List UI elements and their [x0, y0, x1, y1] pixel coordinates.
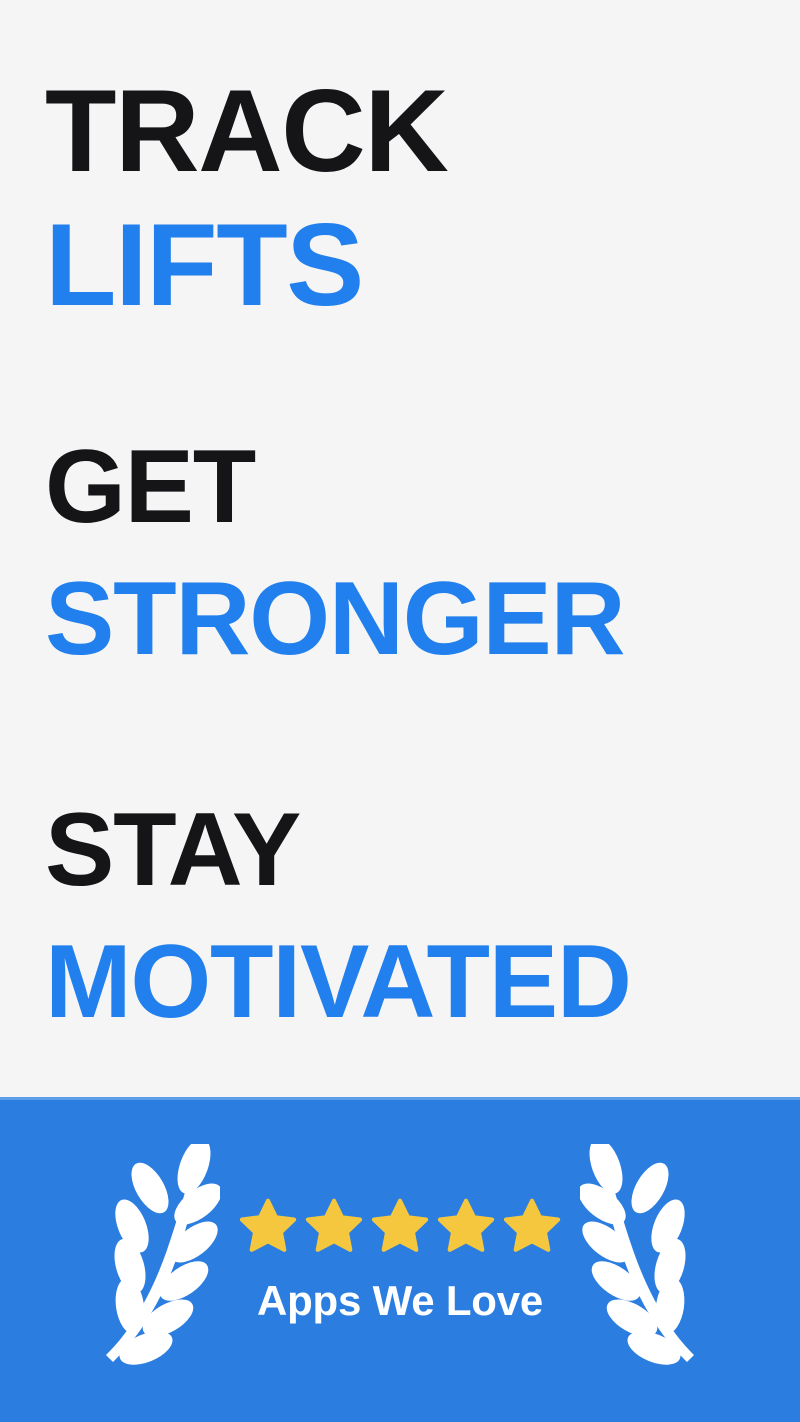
star-rating — [237, 1192, 563, 1258]
star-icon — [501, 1194, 563, 1256]
laurel-wreath-icon — [580, 1144, 712, 1376]
hero-section: TRACK LIFTS GET STRONGER STAY MOTIVATED — [0, 0, 800, 1097]
app-store-promo-screenshot: TRACK LIFTS GET STRONGER STAY MOTIVATED — [0, 0, 800, 1422]
headline-line-lifts: LIFTS — [45, 206, 447, 323]
laurel-wreath-icon — [88, 1144, 220, 1376]
award-badge: Apps We Love — [0, 1097, 800, 1422]
star-icon — [435, 1194, 497, 1256]
star-icon — [237, 1194, 299, 1256]
award-label: Apps We Love — [257, 1280, 543, 1322]
award-center: Apps We Love — [220, 1192, 580, 1328]
star-icon — [369, 1194, 431, 1256]
headline-group-track-lifts: TRACK LIFTS — [45, 72, 447, 323]
headline-line-stay: STAY — [45, 798, 631, 902]
headline-line-get: GET — [45, 435, 624, 539]
headline-line-motivated: MOTIVATED — [45, 930, 631, 1034]
headline-group-stay-motivated: STAY MOTIVATED — [45, 798, 631, 1034]
award-banner: Apps We Love — [0, 1097, 800, 1422]
headline-line-stronger: STRONGER — [45, 567, 624, 671]
headline-group-get-stronger: GET STRONGER — [45, 435, 624, 671]
headline-line-track: TRACK — [45, 72, 447, 189]
star-icon — [303, 1194, 365, 1256]
